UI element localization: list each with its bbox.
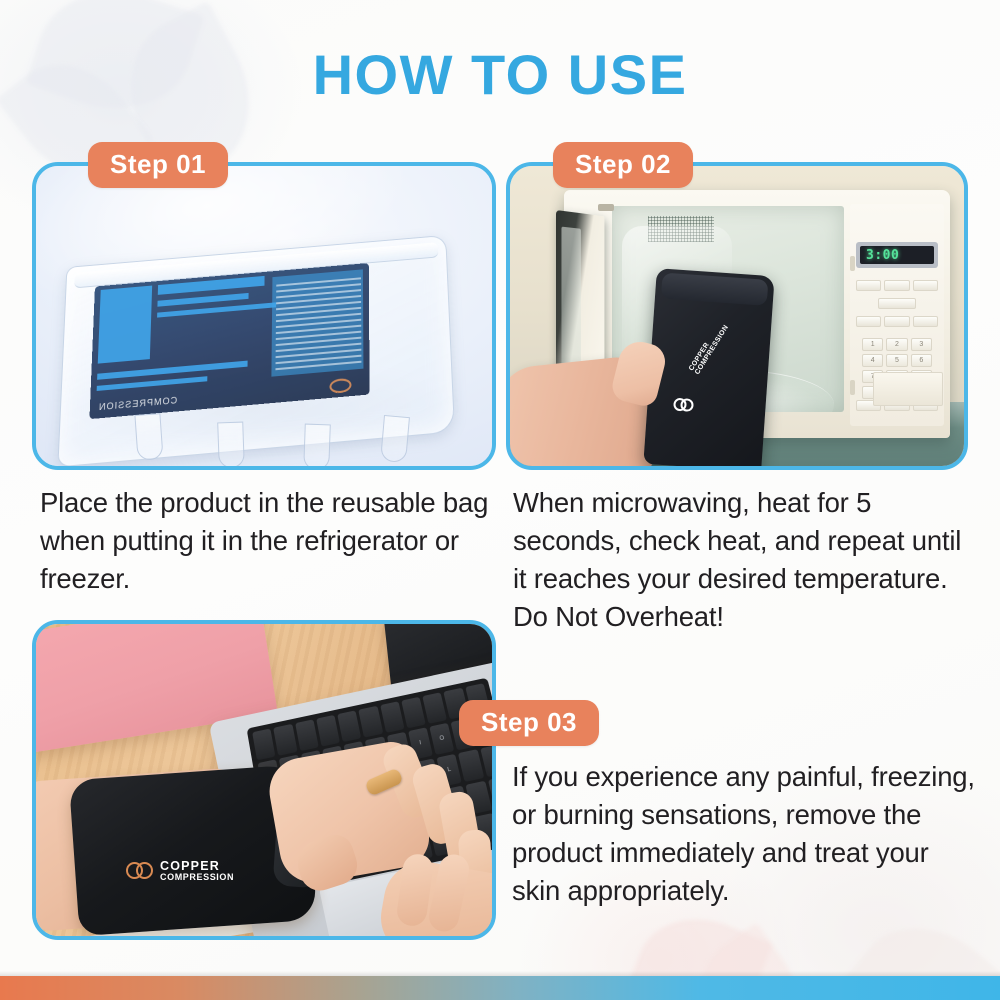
door-latch-slot (850, 256, 855, 271)
microwave-key[interactable]: 4 (862, 354, 883, 367)
keyboard-key[interactable] (316, 715, 340, 747)
microwave-door-hinge (598, 204, 614, 211)
keyboard-key[interactable]: O (429, 723, 454, 755)
door-latch-slot (850, 380, 855, 395)
keyboard-key[interactable] (359, 706, 383, 738)
bottom-accent-bar (0, 976, 1000, 1000)
step-3-photo-panel: Q W E R T Y U I O P A S D F G (32, 620, 496, 940)
microwave-function-button[interactable] (884, 280, 909, 291)
keyboard-key[interactable] (252, 728, 275, 760)
step-1-badge: Step 01 (88, 142, 228, 188)
step-2-photo-panel: 3:00 (506, 162, 968, 470)
microwave-key[interactable]: 3 (911, 338, 932, 351)
microwave-function-row[interactable] (856, 316, 938, 327)
print-block (97, 376, 208, 391)
keyboard-key[interactable] (337, 710, 361, 742)
step-2-caption: When microwaving, heat for 5 seconds, ch… (513, 484, 975, 636)
bag-seal-tab (134, 413, 163, 461)
ring-right (680, 398, 694, 412)
sleeve-brand-logo: COPPER COMPRESSION (126, 860, 234, 882)
step-3-photo: Q W E R T Y U I O P A S D F G (36, 624, 492, 936)
step-1-photo: COMPRESSION (36, 166, 492, 466)
keyboard-key[interactable] (295, 719, 319, 751)
microwave-function-button[interactable] (913, 316, 938, 327)
printed-product-card: COMPRESSION (89, 263, 369, 419)
microwave-key[interactable]: 5 (886, 354, 907, 367)
microwave-function-row[interactable] (878, 298, 916, 309)
microwave-key[interactable]: 2 (886, 338, 907, 351)
microwave-key[interactable]: 1 (862, 338, 883, 351)
brand-line-2: COMPRESSION (160, 873, 234, 882)
microwave-control-panel[interactable]: 3:00 (850, 204, 944, 426)
microwave-function-button[interactable] (856, 316, 881, 327)
print-block (97, 361, 248, 380)
keyboard-key[interactable] (401, 697, 426, 729)
copper-compression-rings-icon (126, 862, 154, 879)
print-block (157, 293, 248, 307)
microwave-function-button[interactable] (884, 316, 909, 327)
step-3-badge: Step 03 (459, 700, 599, 746)
keyboard-key[interactable] (273, 724, 297, 756)
bag-seal-tab (303, 424, 331, 470)
page-title: HOW TO USE (0, 42, 1000, 107)
print-fine-lines (275, 277, 361, 372)
microwave-display: 3:00 (856, 242, 938, 268)
pouch-fold (661, 273, 769, 306)
microwave-function-button[interactable] (913, 280, 938, 291)
step-1-caption: Place the product in the reusable bag wh… (40, 484, 510, 598)
microwave-key[interactable]: 6 (911, 354, 932, 367)
microwave-display-screen: 3:00 (860, 246, 934, 264)
step-2-badge: Step 02 (553, 142, 693, 188)
microwave-time-readout: 3:00 (866, 248, 899, 263)
copper-compression-rings-icon (673, 398, 694, 412)
ring-right (136, 862, 153, 879)
print-block (98, 286, 152, 364)
keyboard-key[interactable] (422, 692, 447, 724)
step-3-caption: If you experience any painful, freezing,… (512, 758, 980, 910)
step-2-photo: 3:00 (510, 166, 964, 466)
microwave-function-button[interactable] (878, 298, 916, 309)
step-1-photo-panel: COMPRESSION (32, 162, 496, 470)
microwave-function-row[interactable] (856, 280, 938, 291)
bag-print-brand-text: COMPRESSION (98, 395, 178, 412)
keyboard-key[interactable] (380, 701, 405, 733)
how-to-use-infographic: HOW TO USE COMPRESSION (0, 0, 1000, 1000)
bag-seal-tab (217, 422, 245, 469)
brand-wordmark: COPPER COMPRESSION (160, 860, 234, 882)
microwave-function-button[interactable] (856, 280, 881, 291)
brand-line-1: COPPER (160, 860, 234, 873)
microwave-lower-panel (873, 372, 943, 406)
copper-ring-icon (329, 378, 351, 394)
keyboard-key[interactable] (458, 749, 484, 782)
pouch-brand-logo: COPPER COMPRESSION (688, 320, 731, 376)
